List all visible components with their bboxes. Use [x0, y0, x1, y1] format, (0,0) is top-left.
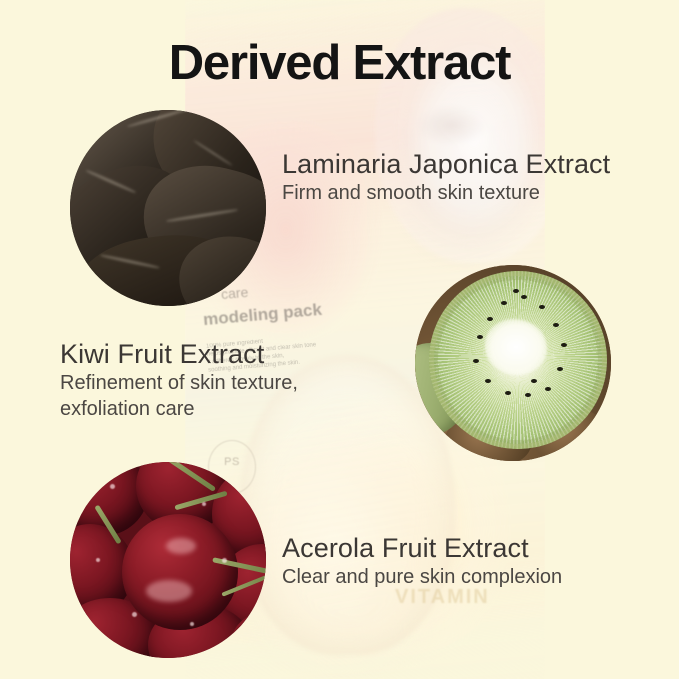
- kiwi-seed: [485, 379, 491, 383]
- kiwi-image: [415, 265, 611, 461]
- kiwi-seed: [545, 387, 551, 391]
- kiwi-seed: [501, 301, 507, 305]
- ingredient-description-acerola-fruit: Clear and pure skin complexion: [282, 564, 562, 590]
- cherry-gloss: [166, 538, 196, 554]
- ingredient-description-laminaria-japonica: Firm and smooth skin texture: [282, 180, 610, 206]
- acerola-cherries-image: [70, 462, 266, 658]
- kiwi-seed: [505, 391, 511, 395]
- cherry-front: [122, 514, 238, 630]
- page-title: Derived Extract: [0, 36, 679, 90]
- water-droplet: [96, 558, 100, 562]
- kiwi-seed: [477, 335, 483, 339]
- kiwi-seed: [561, 343, 567, 347]
- infographic-canvas: MIN care modeling pack 100% pure ingredi…: [0, 0, 679, 679]
- water-droplet: [190, 622, 194, 626]
- kiwi-seed: [487, 317, 493, 321]
- kiwi-half-slice: [429, 271, 607, 449]
- water-droplet: [110, 484, 115, 489]
- ingredient-name-laminaria-japonica: Laminaria Japonica Extract: [282, 148, 610, 180]
- cherry-gloss: [146, 580, 192, 602]
- water-droplet: [132, 612, 137, 617]
- kiwi-seed: [553, 323, 559, 327]
- kiwi-seed: [539, 305, 545, 309]
- kiwi-seed: [513, 289, 519, 293]
- water-droplet: [222, 558, 227, 563]
- ingredient-description-kiwi-fruit-line2: exfoliation care: [60, 396, 298, 422]
- ingredient-name-kiwi-fruit: Kiwi Fruit Extract: [60, 338, 298, 370]
- kiwi-seed: [521, 295, 527, 299]
- water-droplet: [202, 502, 206, 506]
- kiwi-seed: [557, 367, 563, 371]
- kiwi-rind: [429, 271, 607, 449]
- kiwi-seed: [525, 393, 531, 397]
- ingredient-text-laminaria-japonica: Laminaria Japonica Extract Firm and smoo…: [282, 148, 610, 206]
- ingredient-description-kiwi-fruit-line1: Refinement of skin texture,: [60, 370, 298, 396]
- ingredient-text-kiwi-fruit: Kiwi Fruit Extract Refinement of skin te…: [60, 338, 298, 422]
- kelp-image: [70, 110, 266, 306]
- kiwi-seed: [531, 379, 537, 383]
- ingredient-text-acerola-fruit: Acerola Fruit Extract Clear and pure ski…: [282, 532, 562, 590]
- ingredient-name-acerola-fruit: Acerola Fruit Extract: [282, 532, 562, 564]
- kiwi-seed: [473, 359, 479, 363]
